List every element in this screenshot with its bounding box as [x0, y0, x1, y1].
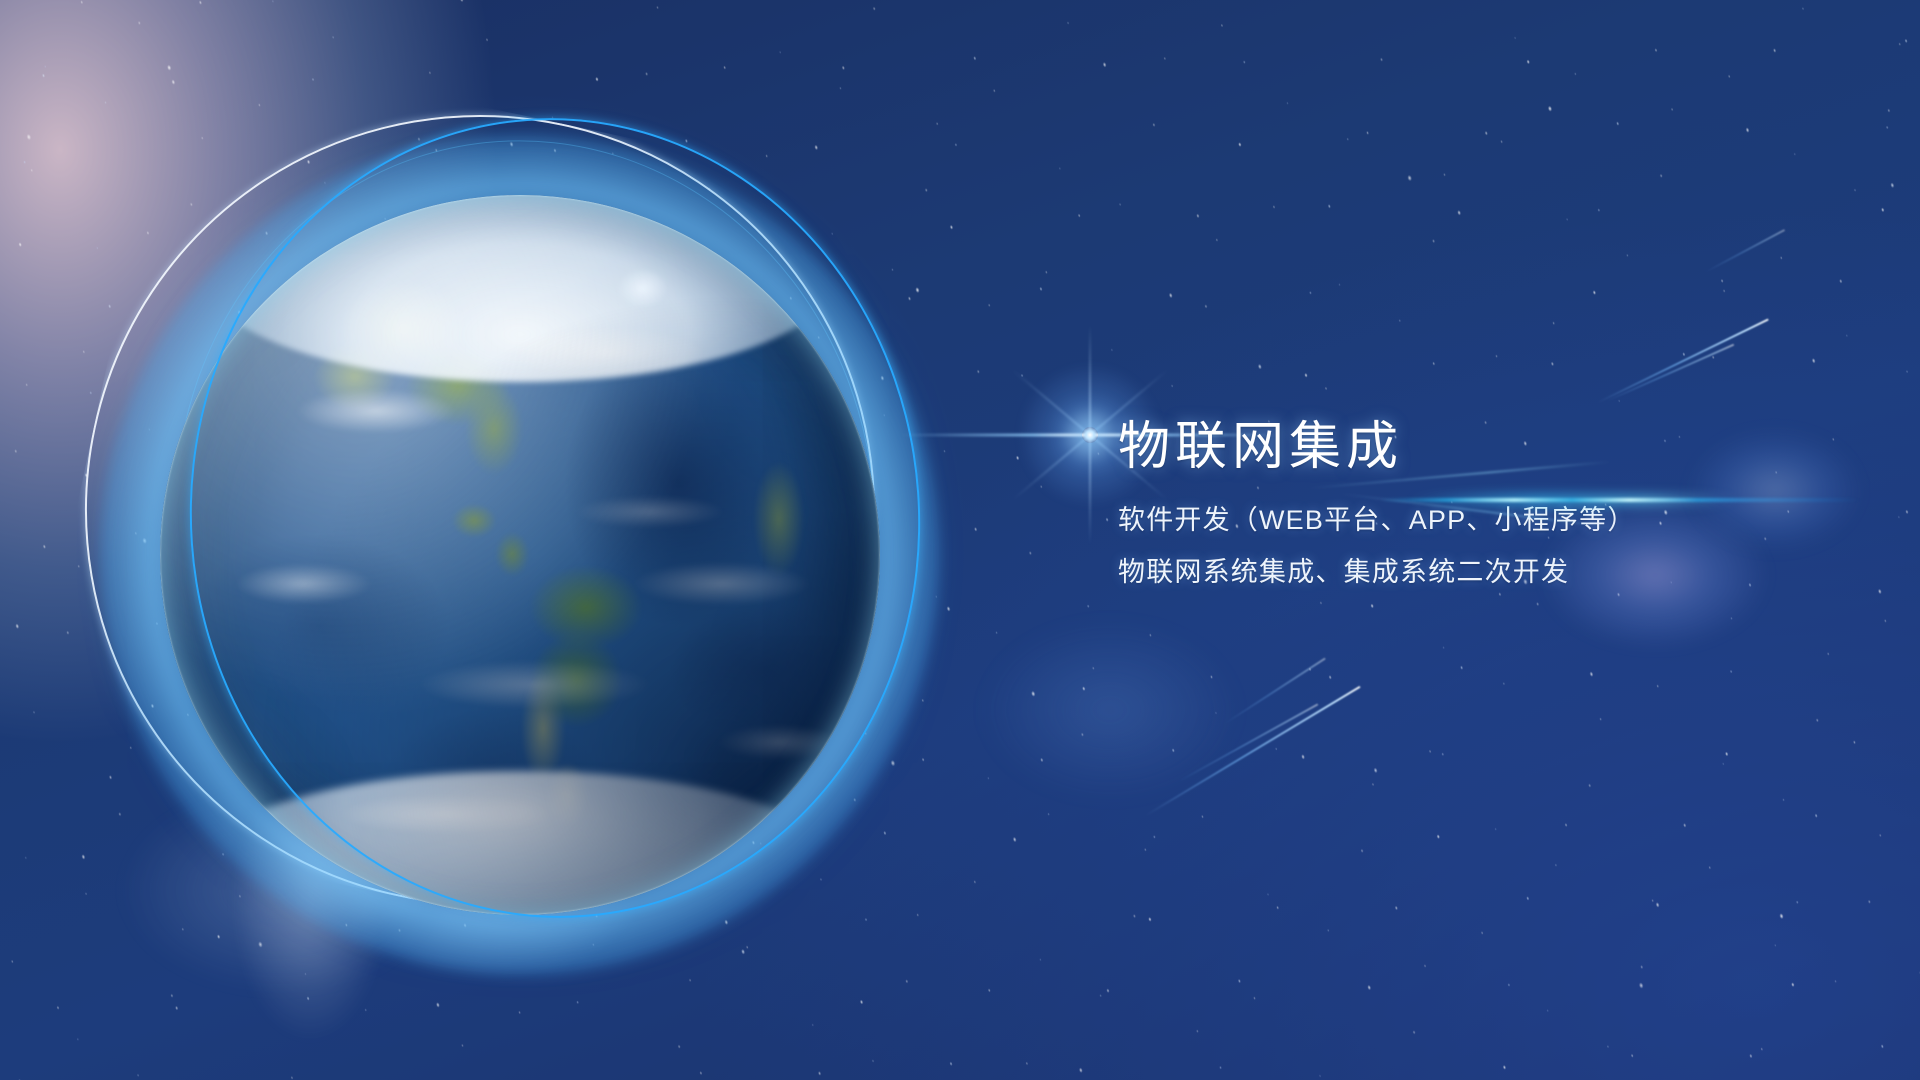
page-title: 物联网集成: [1118, 418, 1838, 477]
earth-globe: [160, 195, 880, 915]
globe-rim-light: [160, 195, 880, 915]
flare-vertical-ray: [1089, 325, 1091, 545]
globe-sphere: [160, 195, 880, 915]
meteor-streak: [1178, 703, 1319, 782]
soft-glow-lower: [980, 620, 1240, 800]
meteor-streak: [1145, 686, 1360, 816]
subtitle-line-1: 软件开发（WEB平台、APP、小程序等）: [1118, 507, 1838, 534]
meteor-streak: [1597, 318, 1769, 403]
hero-banner: 物联网集成 软件开发（WEB平台、APP、小程序等） 物联网系统集成、集成系统二…: [0, 0, 1920, 1080]
meteor-streak: [1606, 344, 1735, 403]
subtitle-line-2: 物联网系统集成、集成系统二次开发: [1118, 559, 1838, 586]
meteor-streak: [1705, 229, 1785, 273]
flare-core: [1082, 427, 1098, 443]
meteor-streak: [1224, 657, 1326, 724]
banner-copy: 物联网集成 软件开发（WEB平台、APP、小程序等） 物联网系统集成、集成系统二…: [1118, 418, 1838, 586]
